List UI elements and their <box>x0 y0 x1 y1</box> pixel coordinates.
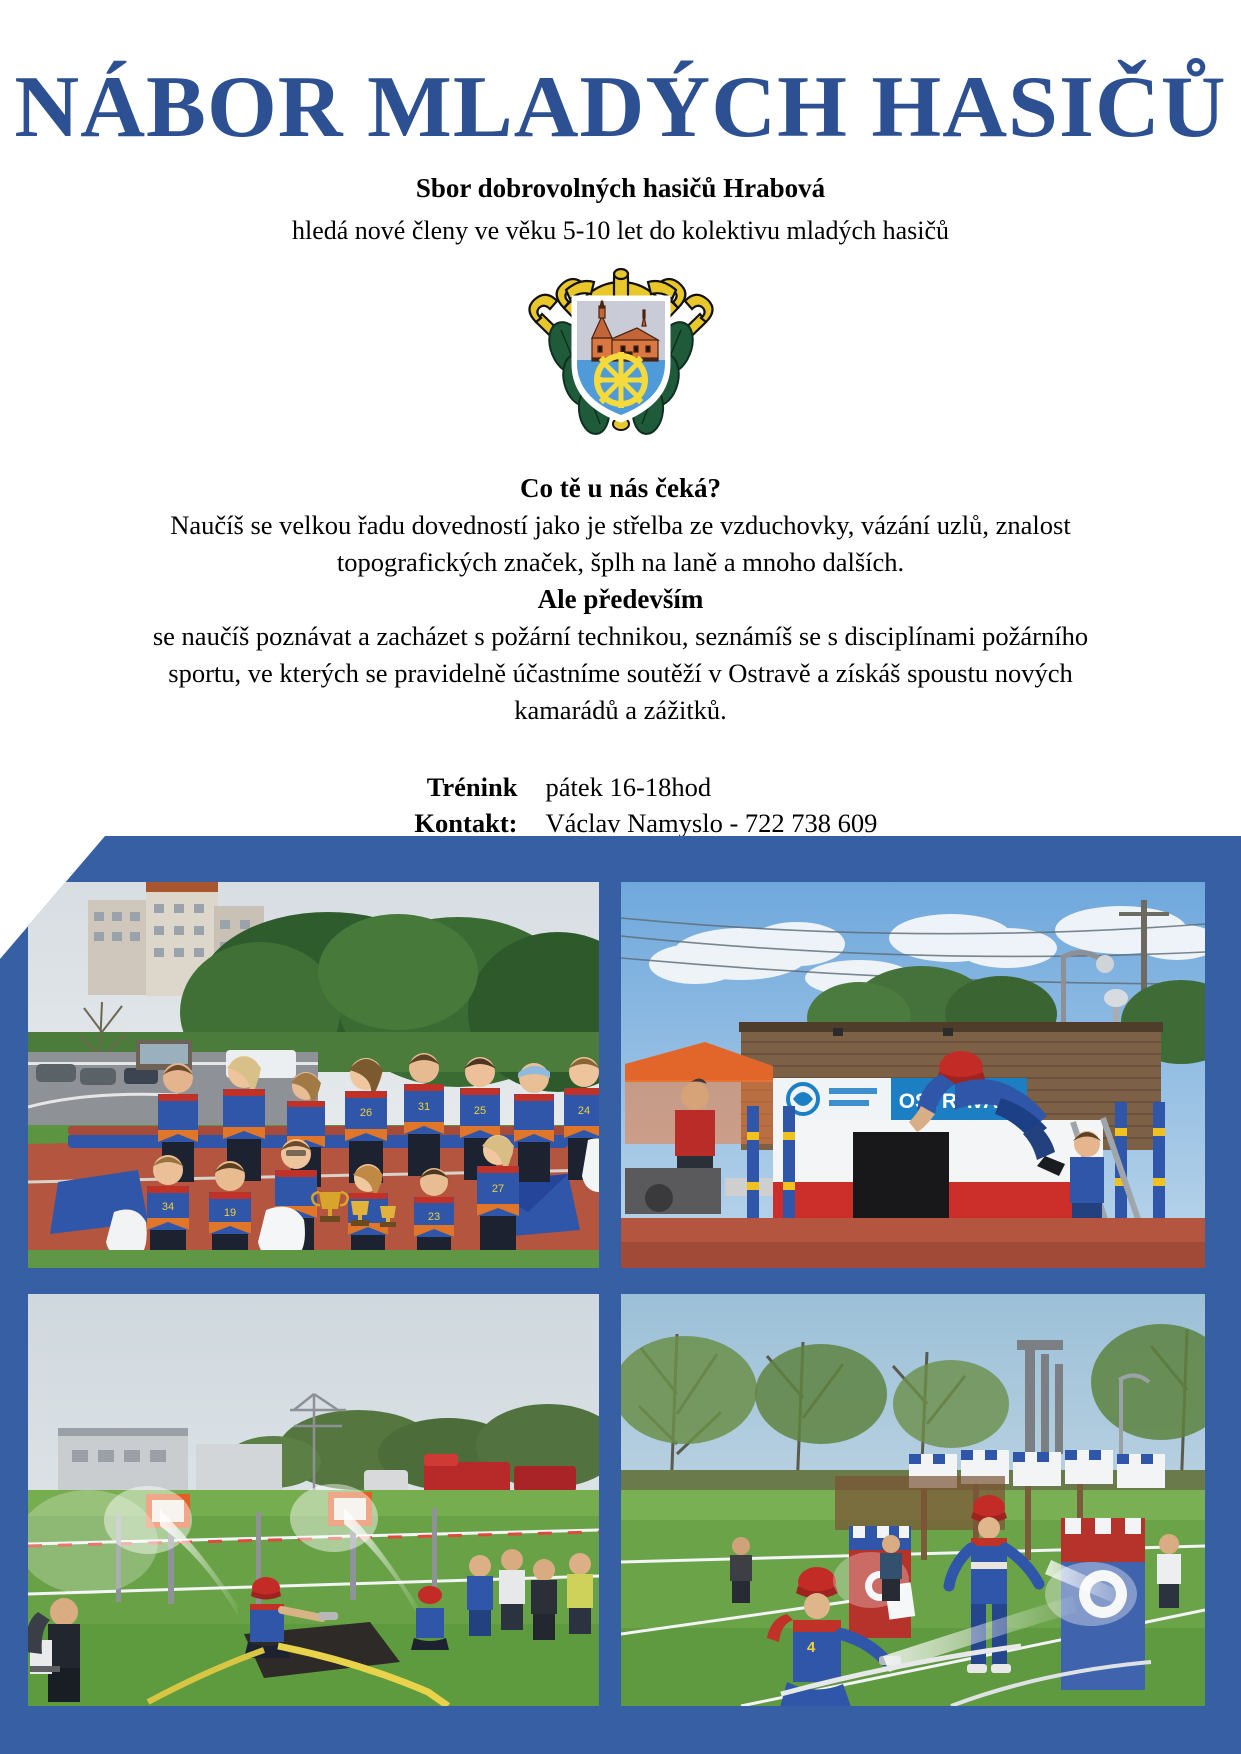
svg-text:25: 25 <box>474 1105 486 1117</box>
svg-text:31: 31 <box>418 1101 430 1113</box>
contact-block: Trénink pátek 16-18hod Kontakt: Václav N… <box>341 770 901 842</box>
team-group-photo-caption: Skupinové foto mladých hasičů s poháry n… <box>28 882 29 883</box>
team-group-photo: Skupinové foto mladých hasičů s poháry n… <box>28 882 599 1268</box>
sport-line-2: sportu, ve kterých se pravidelně účastní… <box>96 656 1146 691</box>
body-copy: Co tě u nás čeká? Naučíš se velkou řadu … <box>96 471 1146 729</box>
skills-line-2: topografických značek, šplh na laně a mn… <box>96 545 1146 580</box>
sport-line-1: se naučíš poznávat a zacházet s požární … <box>96 619 1146 654</box>
training-label: Trénink <box>341 770 546 806</box>
svg-text:27: 27 <box>492 1183 504 1195</box>
svg-text:4: 4 <box>807 1639 816 1656</box>
svg-text:19: 19 <box>224 1207 236 1219</box>
obstacle-wall-photo: Závodník přelézá překážkovou stěnu, bann… <box>621 882 1205 1268</box>
training-value: pátek 16-18hod <box>546 770 712 806</box>
emblem-container <box>0 266 1241 451</box>
fire-brigade-emblem-icon <box>506 268 736 448</box>
sport-line-3: kamarádů a zážitků. <box>96 693 1146 728</box>
svg-text:23: 23 <box>428 1211 440 1223</box>
svg-text:24: 24 <box>578 1105 590 1117</box>
skills-line-1: Naučíš se velkou řadu dovedností jako je… <box>96 508 1146 543</box>
what-awaits-heading: Co tě u nás čeká? <box>96 471 1146 506</box>
hose-attack-photo: Požární útok s proudnicí na travnatém hř… <box>28 1294 599 1706</box>
photo-collage: Skupinové foto mladých hasičů s poháry n… <box>0 836 1241 1754</box>
svg-text:34: 34 <box>162 1201 174 1213</box>
organization-name: Sbor dobrovolných hasičů Hrabová <box>0 172 1241 206</box>
seeking-members-line: hledá nové členy ve věku 5-10 let do kol… <box>0 214 1241 248</box>
training-row: Trénink pátek 16-18hod <box>341 770 901 806</box>
photo-grid: Skupinové foto mladých hasičů s poháry n… <box>28 882 1213 1734</box>
page-title: NÁBOR MLADÝCH HASIČŮ <box>0 0 1241 158</box>
above-all-heading: Ale především <box>96 582 1146 618</box>
target-knockdown-photo: Mladí hasiči sráží terče vodním proudem <box>621 1294 1205 1706</box>
svg-text:26: 26 <box>360 1107 372 1119</box>
